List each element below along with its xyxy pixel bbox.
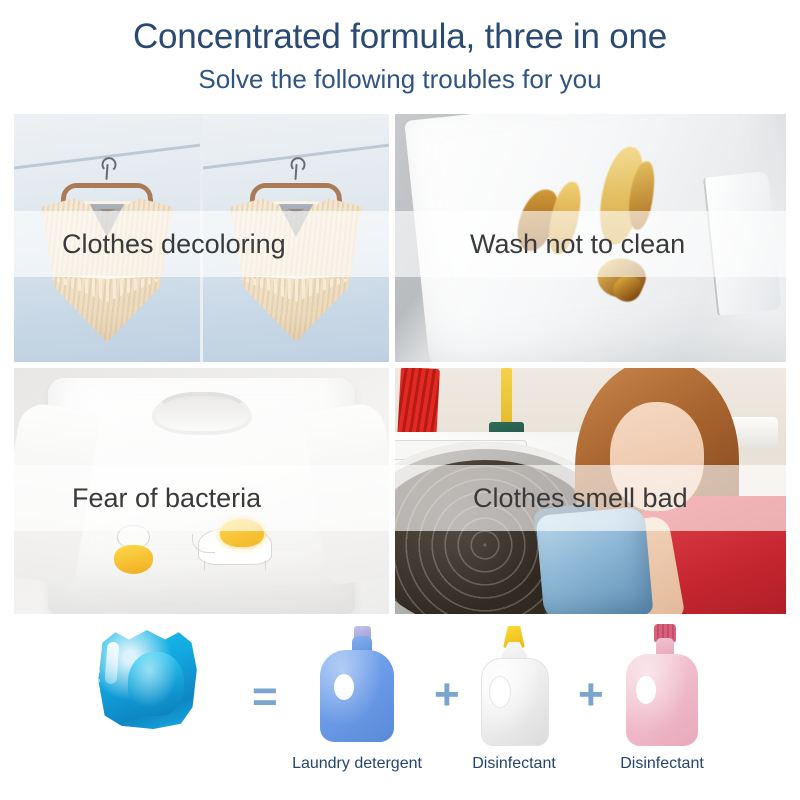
pod-seam: [88, 634, 100, 720]
duck-print: [112, 525, 161, 574]
equals-sign: =: [252, 675, 278, 719]
page-subtitle: Solve the following troubles for you: [0, 62, 800, 96]
panel-wash-not-to-clean: Wash not to clean: [395, 114, 786, 362]
panel-fear-of-bacteria: Fear of bacteria: [14, 368, 389, 614]
product-equation: = Laundry detergent + Disinfectant +: [0, 616, 800, 800]
panel-caption: Clothes smell bad: [395, 485, 688, 512]
caption-band: Wash not to clean: [395, 211, 786, 277]
laundry-pod: [84, 620, 210, 736]
tee-collar: [151, 392, 251, 435]
problem-panel-grid: Clothes decoloring Wash not to clean: [14, 114, 786, 614]
pink-disinfectant-bottle: [618, 624, 706, 748]
panel-clothes-smell-bad: Clothes smell bad: [395, 368, 786, 614]
caption-band: Clothes smell bad: [395, 465, 786, 531]
panel-caption: Fear of bacteria: [14, 485, 261, 512]
white-disinfectant-bottle: [471, 624, 557, 748]
blue-detergent-bottle: [312, 624, 402, 748]
panel-caption: Clothes decoloring: [14, 231, 286, 258]
panel-caption: Wash not to clean: [395, 231, 685, 258]
page-title: Concentrated formula, three in one: [0, 16, 800, 58]
caption-band: Clothes decoloring: [14, 211, 389, 277]
component-label: Disinfectant: [592, 756, 732, 772]
component-disinfectant-pink: Disinfectant: [592, 624, 732, 772]
component-label: Disinfectant: [446, 756, 582, 772]
component-label: Laundry detergent: [283, 756, 431, 772]
component-laundry-detergent: Laundry detergent: [283, 624, 431, 772]
infographic-page: Concentrated formula, three in one Solve…: [0, 0, 800, 800]
caption-band: Fear of bacteria: [14, 465, 389, 531]
panel-clothes-decoloring: Clothes decoloring: [14, 114, 389, 362]
heading-block: Concentrated formula, three in one Solve…: [0, 0, 800, 96]
component-disinfectant-white: Disinfectant: [446, 624, 582, 772]
